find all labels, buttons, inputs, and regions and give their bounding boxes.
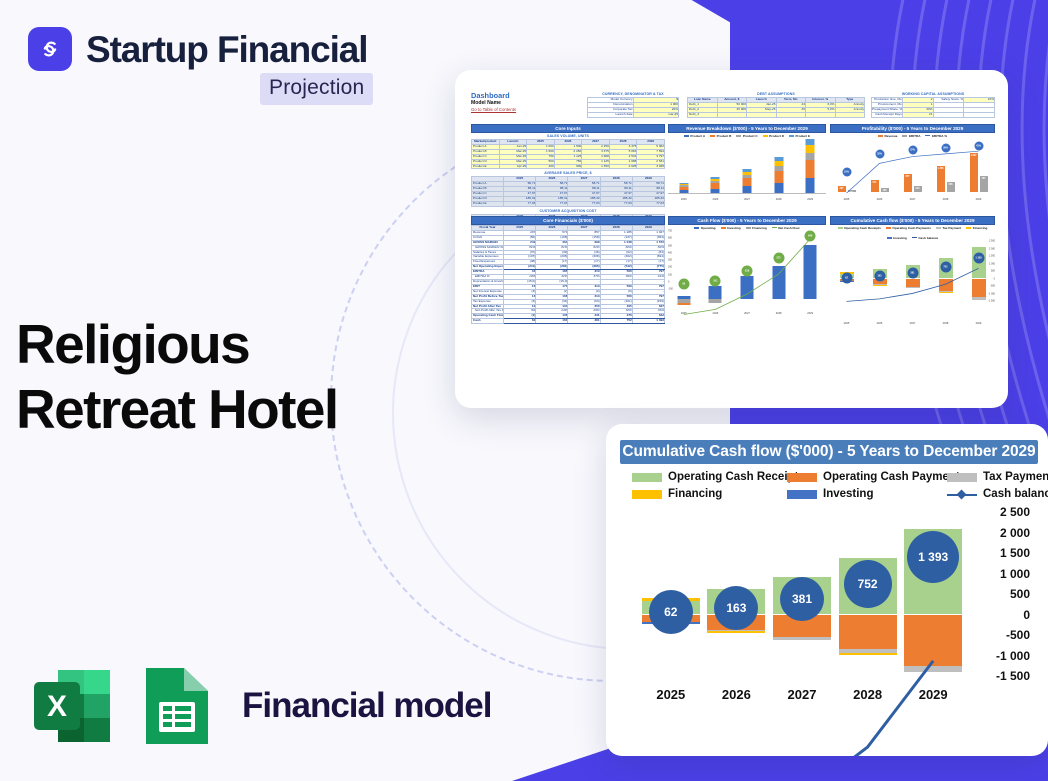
legend-item: Tax Payment [936,226,961,231]
legend-line-swatch [947,490,977,499]
table-row: Debt_3 [688,112,865,117]
data-point-marker: 62 [678,278,689,289]
table-cell [964,112,995,117]
core-inputs-bar: Core Inputs [471,124,665,133]
y-tick: 2 500 [1000,505,1030,519]
table-cell [717,112,747,117]
table-cell: Cash [472,319,504,324]
table-cell [835,112,865,117]
chart-title: Cumulative Cash flow ($'000) - 5 Years t… [620,440,1038,464]
x-tick: 2025 [681,198,687,201]
bar-segment [743,178,752,186]
table-cell: Net Profit After Tax [472,304,504,309]
legend-swatch [787,473,817,482]
dashboard-screenshot-card[interactable]: Dashboard Model Name Go to Table of Cont… [455,70,1008,408]
dashboard-title: Dashboard [471,92,591,100]
legend-item: Cash balance [947,488,1048,500]
legend-label: Tax Payment [983,471,1048,483]
legend-item: Investing [787,488,947,500]
table-cell: Prepayment Share, % [872,107,903,112]
table-header-cell: Market/product [472,140,500,145]
format-row: X Financial model [28,662,492,750]
profitability-chart: 2973110%202557118532%202685731337%20271 … [830,139,995,201]
y-tick: 1 500 [1000,546,1030,560]
core-financials-bar: Core Financials ($'000) [471,216,665,225]
cumulative-cashflow-chart: Cumulative Cash flow ($'000) - 5 Years t… [606,424,1048,756]
infinity-swirl-icon [35,34,65,64]
plot-area: 621633817521 393 [638,512,966,676]
table-cell: Operating Cash Flows [472,314,504,319]
table-cell: 62 [504,319,536,324]
table-row: Cash Receipt Days21 [872,112,995,117]
cumulative-chart-legend: Operating Cash ReceiptsOperating Cash Pa… [830,226,995,241]
currency-table: Model Currency$Denomination1 000Corporat… [587,97,679,118]
data-point-marker: 163 [874,271,885,282]
table-cell: 900 [554,164,582,169]
table-row: Cash621633817521 393 [472,319,665,324]
data-point-marker: 371 [773,253,784,264]
page-title: Religious Retreat Hotel [16,312,436,442]
data-point-marker: 752 [844,560,892,608]
table-cell: 77,03 [600,201,632,206]
table-cell: 1 393 [632,319,664,324]
chart-bar [743,169,752,193]
y-tick: 500 [1010,587,1030,601]
table-cell: Depreciation & Amortization [472,279,504,284]
revenue-chart-title: Revenue Breakdown ($'000) - 5 Years to D… [668,124,826,133]
data-point-marker: 62 [649,590,693,634]
legend-swatch [632,490,662,499]
avg-price-table: 20252026202720282029Product A58,7158,715… [471,176,665,206]
chart-plot: 621633817521 393 2 5002 0001 5001 000500… [620,512,1038,702]
table-cell: 77,03 [568,201,600,206]
cumulative-cash-flow-chart-mini: 6220251632026381202775220281 39320292 50… [830,241,995,325]
chart-bar [711,177,720,193]
cumulative-cashflow-card[interactable]: Cumulative Cash flow ($'000) - 5 Years t… [606,424,1048,756]
google-sheets-icon [138,662,216,750]
chart-bar [806,139,815,193]
logo-mark [28,27,72,71]
data-point-marker: 752 [940,262,951,273]
legend-item: Financing [632,488,787,500]
y-tick: 1 000 [1000,567,1030,581]
table-cell: 21 [902,112,933,117]
poster-canvas: Startup Financial Projection Religious R… [0,0,1048,781]
table-row: Launch datemar-25 [588,112,679,117]
core-financials-table: Fiscal Year20252026202720282029Revenue29… [471,225,665,324]
table-cell: 77,03 [504,201,536,206]
legend-label: Operating Cash Payments [823,471,966,483]
table-cell: 400 [527,164,555,169]
table-cell: Net Interest Expense [472,289,504,294]
trend-line [668,231,826,364]
legend-item: Operating Cash Payments [787,471,947,483]
table-cell: Net Profit After Tax % [472,309,504,314]
table-cell: Net Operating Expenses [472,265,504,270]
table-cell: 77,03 [536,201,568,206]
legend-label: Operating Cash Receipts [668,471,805,483]
data-point-marker: 37% [908,145,917,154]
table-cell: Production time, Mo [872,98,903,103]
legend-swatch [787,490,817,499]
y-tick: 0 [1023,608,1030,622]
brand-name: Startup Financial [86,31,367,68]
y-tick: -500 [1006,628,1030,642]
table-cell: GROSS MARGIN % [472,245,504,250]
table-cell: 752 [600,319,632,324]
dashboard-subtitle: Model Name [471,101,591,107]
legend-swatch [947,473,977,482]
legend-item: Operating Cash Payments [886,226,931,231]
chart-legend: Operating Cash ReceiptsOperating Cash Pa… [632,471,1038,500]
legend-item: Operating Cash Receipts [838,226,881,231]
table-row: Product E77,0377,0377,0377,0377,03 [472,201,665,206]
table-cell [776,112,806,117]
data-point-marker: 41% [974,142,983,151]
debt-table: Loan NameAmount, $LaunchTerm, MoInterest… [687,97,865,118]
table-cell: 2 025 [609,164,637,169]
legend-item: Operating Cash Receipts [632,471,787,483]
y-tick: 2 000 [1000,526,1030,540]
bar-segment [774,183,783,193]
data-point-marker: 640 [805,230,816,241]
bar-segment [774,171,783,183]
table-cell: Cash Receipt Days [872,112,903,117]
data-point-marker: 62 [841,272,852,283]
page-title-line2: Retreat Hotel [16,377,436,442]
cumulative-chart-title: Cumulative Cash flow ($'000) - 5 Years t… [830,216,995,225]
table-cell: Launch date [588,112,634,117]
svg-text:X: X [47,690,67,723]
working-capital-table: Production time, Mo2Safety Stock, %10%Pr… [871,97,995,118]
table-cell [747,112,777,117]
data-point-marker: 218 [742,265,753,276]
chart-bar [774,157,783,193]
y-tick: -1 500 [996,669,1030,683]
x-tick: 2027 [744,198,750,201]
legend-item: Tax Payment [947,471,1048,483]
bar-segment [806,178,815,193]
table-cell: Net Profit Before Tax [472,294,504,299]
table-cell: Product E [472,201,504,206]
microsoft-excel-icon: X [28,662,116,750]
data-point-marker: 163 [714,586,758,630]
legend-swatch [632,473,662,482]
brand-lockup: Startup Financial [28,27,367,71]
legend-item: Financing [966,226,987,231]
legend-label: Investing [823,488,873,500]
table-cell: mar-25 [633,112,679,117]
cashflow-chart-title: Cash Flow ($'000) - 5 Years to December … [668,216,826,225]
format-label: Financial model [242,686,492,726]
sales-volume-table: Market/productLaunch20252026202720282029… [471,139,665,169]
table-cell [933,112,964,117]
table-cell: Product E [472,164,500,169]
profitability-chart-title: Profitability ($'000) - 5 Years to Decem… [830,124,995,133]
legend-label: Financing [668,488,722,500]
table-cell: 163 [536,319,568,324]
y-tick: -1 000 [996,649,1030,663]
bar-segment [806,153,815,160]
bar-segment [806,160,815,178]
table-cell: 1 350 [582,164,610,169]
data-point-marker: 1 393 [973,252,984,263]
toc-link[interactable]: Go to Table of Contents [471,107,591,112]
data-point-marker: 10% [842,167,851,176]
table-row: Product EApr-254009001 3502 0253 038 [472,164,665,169]
x-tick: 2029 [807,198,813,201]
spreadsheet-dashboard: Dashboard Model Name Go to Table of Cont… [465,84,998,396]
data-point-marker: 381 [780,577,824,621]
x-tick: 2026 [713,198,719,201]
cash-flow-chart: 6220251012026218202737120286402029700600… [668,231,826,315]
table-cell [806,112,836,117]
trend-line [830,241,995,380]
chart-bar [679,183,688,193]
data-point-marker: 39% [941,144,950,153]
table-cell: Apr-25 [499,164,527,169]
x-tick: 2028 [776,198,782,201]
table-cell: 381 [568,319,600,324]
bar-segment [806,145,815,153]
page-title-line1: Religious [16,312,436,377]
y-axis: 2 5002 0001 5001 0005000-500-1 000-1 500 [968,512,1038,676]
data-point-marker: 381 [907,267,918,278]
projection-badge: Projection [260,73,373,105]
revenue-breakdown-chart: 20252026202720282029 [668,139,826,201]
legend-label: Cash balance [983,488,1048,500]
table-cell: 77,03 [632,201,664,206]
table-cell: Debt_3 [688,112,718,117]
data-point-marker: 32% [875,149,884,158]
table-cell: 3 038 [637,164,665,169]
data-point-marker: 101 [710,275,721,286]
